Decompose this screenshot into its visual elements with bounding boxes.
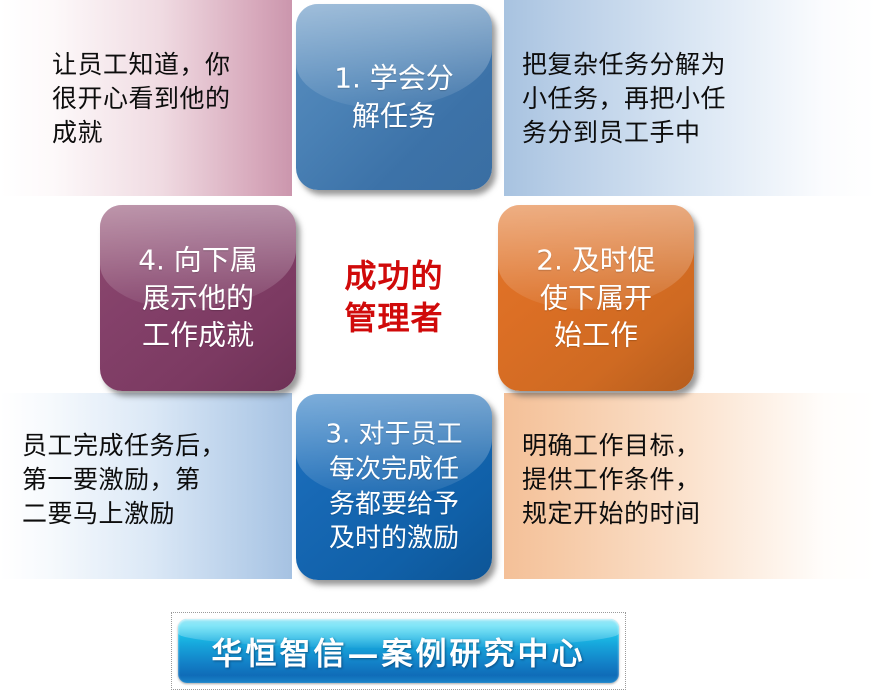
- footer-banner[interactable]: 华恒智信—案例研究中心: [178, 619, 619, 683]
- footer-banner-frame: 华恒智信—案例研究中心: [171, 612, 626, 690]
- panel-top-left: 让员工知道，你 很开心看到他的 成就: [0, 0, 292, 196]
- diagram-canvas: 让员工知道，你 很开心看到他的 成就 把复杂任务分解为 小任务，再把小任 务分到…: [0, 0, 877, 698]
- step-box-2-label: 2. 及时促 使下属开 始工作: [498, 242, 694, 355]
- center-title: 成功的 管理者: [296, 236, 492, 360]
- step-box-1-label: 1. 学会分 解任务: [296, 59, 492, 134]
- panel-bottom-left: 员工完成任务后， 第一要激励，第 二要马上激励: [0, 393, 292, 579]
- step-box-4-label: 4. 向下属 展示他的 工作成就: [100, 242, 296, 355]
- panel-top-left-text: 让员工知道，你 很开心看到他的 成就: [52, 48, 282, 150]
- panel-bottom-left-text: 员工完成任务后， 第一要激励，第 二要马上激励: [22, 429, 292, 531]
- step-box-2[interactable]: 2. 及时促 使下属开 始工作: [498, 205, 694, 391]
- step-box-3[interactable]: 3. 对于员工 每次完成任 务都要给予 及时的激励: [296, 394, 492, 580]
- step-box-3-label: 3. 对于员工 每次完成任 务都要给予 及时的激励: [296, 417, 492, 556]
- step-box-1[interactable]: 1. 学会分 解任务: [296, 4, 492, 190]
- panel-bottom-right: 明确工作目标， 提供工作条件， 规定开始的时间: [504, 393, 877, 579]
- panel-top-right: 把复杂任务分解为 小任务，再把小任 务分到员工手中: [504, 0, 877, 196]
- step-box-4[interactable]: 4. 向下属 展示他的 工作成就: [100, 205, 296, 391]
- panel-bottom-right-text: 明确工作目标， 提供工作条件， 规定开始的时间: [522, 429, 822, 531]
- panel-top-right-text: 把复杂任务分解为 小任务，再把小任 务分到员工手中: [522, 48, 822, 150]
- footer-banner-text: 华恒智信—案例研究中心: [178, 629, 619, 674]
